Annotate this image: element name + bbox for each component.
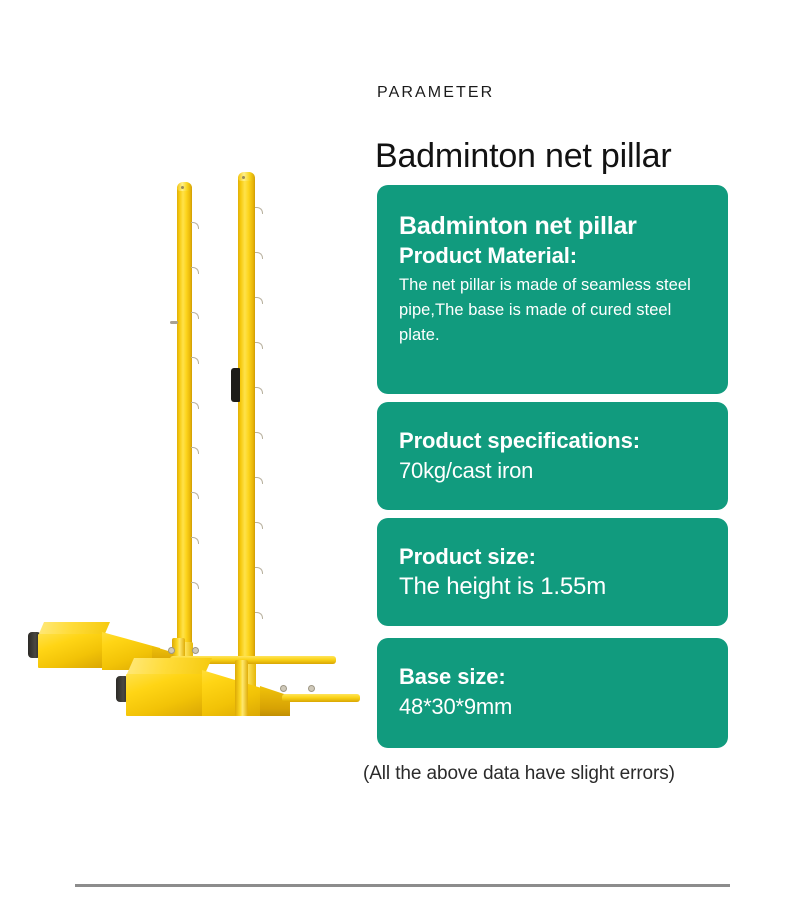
net-hook-icon [255,252,263,259]
base-bolt-icon [168,647,175,654]
base-bolt-icon [192,647,199,654]
disclaimer-footnote: (All the above data have slight errors) [363,763,675,785]
cap-screw-icon [242,176,245,179]
net-hook-icon [191,222,199,229]
net-pillar-left-icon [177,182,192,682]
net-hook-icon [191,402,199,409]
base-bolt-icon [280,685,287,692]
spec-card-product-size: Product size: The height is 1.55m [377,518,728,626]
stabiliser-rail-icon [282,694,360,702]
card-value-product-specifications: 70kg/cast iron [399,455,706,487]
net-hook-icon [191,582,199,589]
card-label-product-material: Product Material: [399,241,706,270]
net-hook-icon [255,567,263,574]
card-value-product-size: The height is 1.55m [399,571,706,603]
card-body-product-material: The net pillar is made of seamless steel… [399,273,706,348]
pillar-cap-icon [238,172,255,181]
product-photo-stage [20,160,360,740]
pillar-clamp-icon [231,368,240,402]
product-photo [0,0,370,860]
net-hook-icon [255,207,263,214]
pillar-side-pin-icon [170,321,178,324]
net-hook-icon [191,492,199,499]
card-value-base-size: 48*30*9mm [399,691,706,723]
net-hook-icon [255,432,263,439]
base-box-icon [126,674,204,716]
net-hook-icon [191,357,199,364]
eyebrow-label: PARAMETER [377,84,494,102]
net-hook-icon [255,297,263,304]
card-heading: Badminton net pillar [399,211,706,241]
card-label-base-size: Base size: [399,662,706,691]
net-hook-icon [191,537,199,544]
net-hook-icon [255,342,263,349]
net-hook-icon [255,522,263,529]
net-pillar-right-icon [238,172,255,702]
spec-card-material: Badminton net pillar Product Material: T… [377,185,728,394]
net-hook-icon [255,477,263,484]
net-hook-icon [191,267,199,274]
net-hook-icon [255,387,263,394]
spec-card-specifications: Product specifications: 70kg/cast iron [377,402,728,510]
net-hook-icon [255,612,263,619]
page-title: Badminton net pillar [375,135,672,177]
card-label-product-specifications: Product specifications: [399,426,706,455]
base-bolt-icon [308,685,315,692]
section-divider [75,884,730,887]
net-hook-icon [191,447,199,454]
pillar-cap-icon [177,182,192,191]
stabiliser-riser-icon [235,660,248,716]
net-hook-icon [191,312,199,319]
spec-card-base-size: Base size: 48*30*9mm [377,638,728,748]
card-label-product-size: Product size: [399,542,706,571]
base-box-icon [38,634,104,668]
product-parameter-page: PARAMETER Badminton net pillar Badminton… [0,0,790,899]
cap-screw-icon [181,186,184,189]
